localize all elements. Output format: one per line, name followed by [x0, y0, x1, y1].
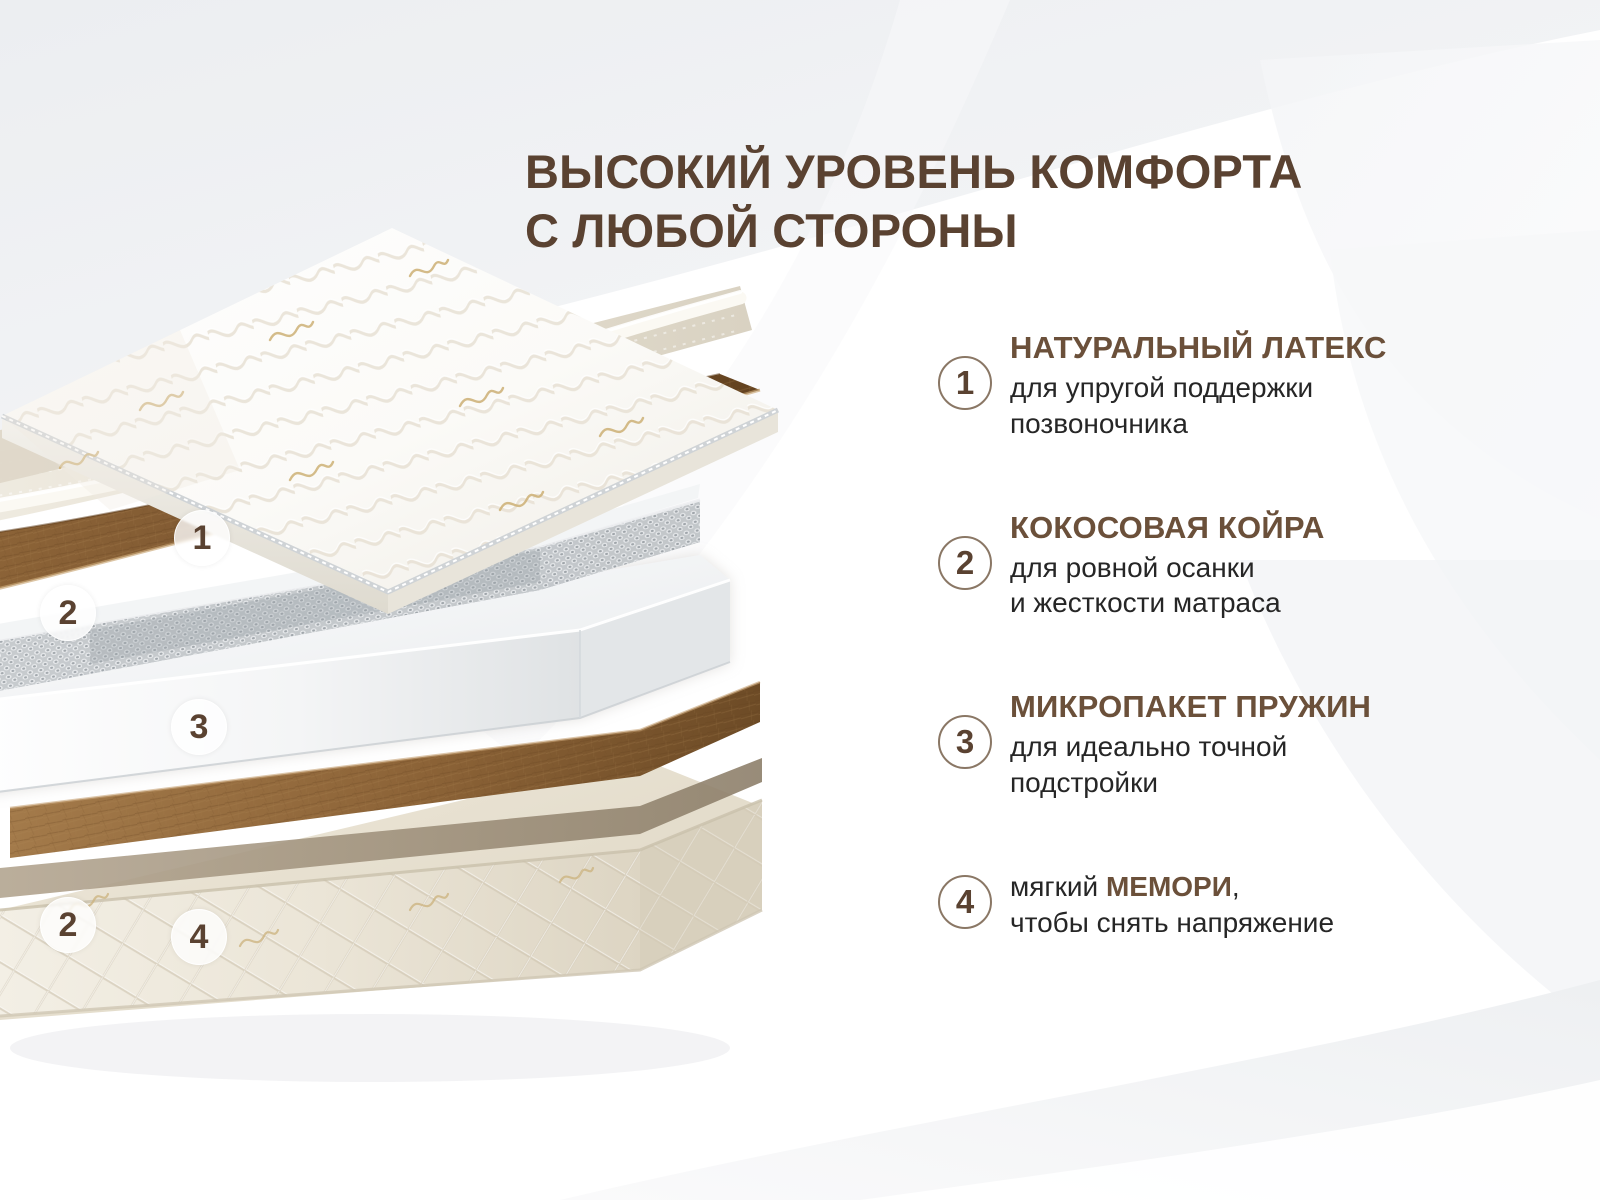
feature-desc-1: для упругой поддержки позвоночника: [1010, 370, 1558, 442]
feature-item-2[interactable]: 2 КОКОСОВАЯ КОЙРА для ровной осанки и же…: [938, 510, 1558, 622]
feature-text-4: мягкий МЕМОРИ, чтобы снять напряжение: [1010, 869, 1558, 941]
feature-list: 1 НАТУРАЛЬНЫЙ ЛАТЕКС для упругой поддерж…: [938, 330, 1558, 940]
feature-item-4[interactable]: 4 мягкий МЕМОРИ, чтобы снять напряжение: [938, 869, 1558, 941]
image-badge-2-top[interactable]: 2: [40, 585, 96, 641]
feature-number-1: 1: [938, 356, 992, 410]
feature-item-3[interactable]: 3 МИКРОПАКЕТ ПРУЖИН для идеально точной …: [938, 689, 1558, 801]
feature-title-1: НАТУРАЛЬНЫЙ ЛАТЕКС: [1010, 330, 1558, 366]
feature-text-2: КОКОСОВАЯ КОЙРА для ровной осанки и жест…: [1010, 510, 1558, 622]
image-badge-2-bottom[interactable]: 2: [40, 897, 96, 953]
mattress-cutaway-illustration: 1 2 3 2 4: [0, 210, 860, 1110]
feature-title-4: МЕМОРИ: [1106, 871, 1232, 902]
swoosh-bottom-highlight: [860, 1080, 1600, 1200]
feature-desc-2: для ровной осанки и жесткости матраса: [1010, 550, 1558, 622]
infographic-canvas: ВЫСОКИЙ УРОВЕНЬ КОМФОРТА С ЛЮБОЙ СТОРОНЫ: [0, 0, 1600, 1200]
feature-number-3: 3: [938, 715, 992, 769]
feature-text-3: МИКРОПАКЕТ ПРУЖИН для идеально точной по…: [1010, 689, 1558, 801]
feature-text-1: НАТУРАЛЬНЫЙ ЛАТЕКС для упругой поддержки…: [1010, 330, 1558, 442]
feature-number-2: 2: [938, 536, 992, 590]
image-badge-3[interactable]: 3: [171, 699, 227, 755]
feature-desc-4: мягкий МЕМОРИ, чтобы снять напряжение: [1010, 869, 1558, 941]
image-badge-1[interactable]: 1: [174, 510, 230, 566]
feature-desc-3: для идеально точной подстройки: [1010, 729, 1558, 801]
feature-desc-4-prefix: мягкий: [1010, 871, 1106, 902]
feature-title-2: КОКОСОВАЯ КОЙРА: [1010, 510, 1558, 546]
mattress-svg: [0, 210, 860, 1110]
image-badge-4[interactable]: 4: [171, 909, 227, 965]
feature-number-4: 4: [938, 875, 992, 929]
feature-item-1[interactable]: 1 НАТУРАЛЬНЫЙ ЛАТЕКС для упругой поддерж…: [938, 330, 1558, 442]
feature-title-3: МИКРОПАКЕТ ПРУЖИН: [1010, 689, 1558, 725]
